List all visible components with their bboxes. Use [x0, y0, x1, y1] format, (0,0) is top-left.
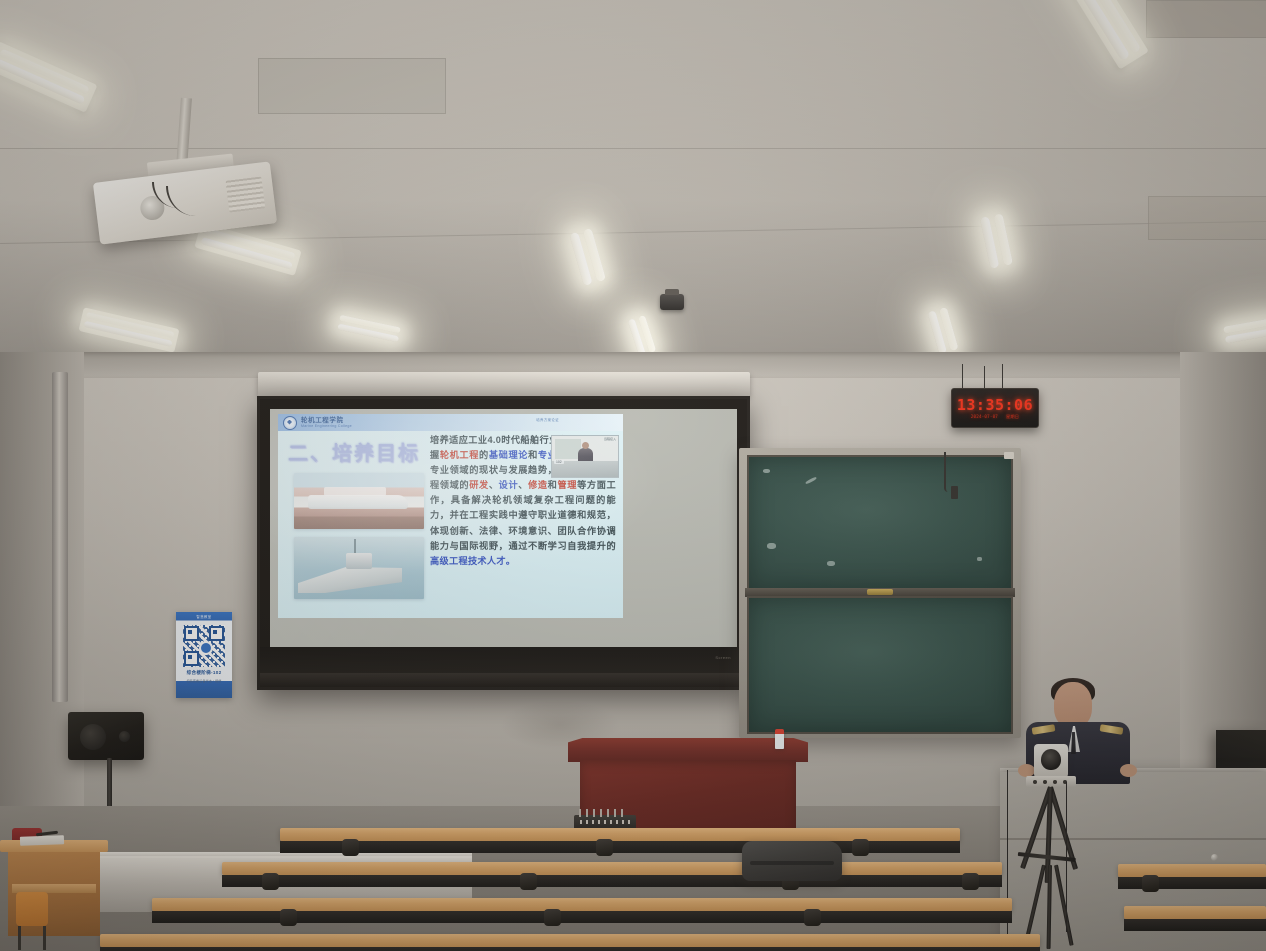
slide-text-run: 研发: [469, 480, 489, 490]
clock-wires: [958, 364, 1018, 390]
board-clip: [1004, 452, 1014, 459]
desk-bracket: [1142, 875, 1159, 892]
projection-screen: 轮机工程学院 Marine Engineering College 培养方案论证…: [257, 396, 750, 690]
slide-text-run: 等方面工作，具备解决轮机领域复杂工程问题的能力，并在工程实践中遵守职业道德和规范…: [430, 480, 616, 550]
chair-back: [16, 892, 48, 926]
college-logo-icon: [283, 416, 297, 430]
slide-text-run: 、: [489, 480, 499, 490]
cabinet-lock-icon[interactable]: [1211, 854, 1218, 861]
lecture-desk-row: [100, 934, 1040, 951]
slide-text-run: 设计: [499, 480, 519, 490]
slide-text-run: 修造: [528, 480, 548, 490]
qr-finder-icon: [209, 626, 224, 641]
slide-text-run: 、: [518, 480, 528, 490]
chalk-mark: [763, 469, 770, 473]
clock-weekday: 星期日: [1006, 414, 1019, 420]
slide-text-run: 和: [548, 480, 558, 490]
cruise-ship-photo: [294, 473, 424, 529]
desk-bracket: [852, 839, 869, 856]
camera-lens-icon: [1041, 749, 1061, 770]
chalkboard-handle[interactable]: [867, 589, 893, 595]
desk-top: [1118, 864, 1266, 877]
pip-participant-name: 远程接入: [604, 437, 616, 441]
cable-connector: [951, 486, 958, 499]
qr-finder-icon: [184, 651, 199, 666]
desk-bracket: [262, 873, 279, 890]
slide-text-run: 的: [479, 450, 489, 460]
pip-room-label: 102: [554, 460, 564, 464]
lecture-hall-photo: 轮机工程学院 Marine Engineering College 培养方案论证…: [0, 0, 1266, 951]
chalk-mark: [805, 476, 817, 484]
ceiling-panel: [258, 58, 446, 114]
chalk-mark: [827, 561, 835, 566]
chalk-mark: [977, 557, 982, 561]
presenter-hand-right: [1120, 764, 1137, 777]
desk-bracket: [804, 909, 821, 926]
screen-brand-label: Screen: [715, 655, 731, 660]
projector-vent: [226, 176, 266, 212]
poster-subtext: 扫码查看设备状态 / 报修: [176, 679, 232, 683]
desk-bracket: [962, 873, 979, 890]
desk-top: [1124, 906, 1266, 919]
chalkboard-panel-lower: [747, 596, 1013, 734]
screen-surface: 轮机工程学院 Marine Engineering College 培养方案论证…: [270, 409, 737, 647]
org-name-en: Marine Engineering College: [301, 424, 352, 429]
slide-text-run: 轮机工程: [440, 450, 479, 460]
pip-video-window: 102 远程接入: [551, 435, 619, 478]
poster-brand: 智慧教室: [196, 614, 211, 619]
slide-text-run: 管理: [557, 480, 577, 490]
wooden-chair: [14, 892, 50, 950]
ceiling-camera-icon: [660, 294, 684, 310]
desk-top: [222, 862, 1002, 875]
blackboard-cable: [944, 452, 948, 492]
speaker-woofer-icon: [80, 724, 106, 750]
wall-pipe: [52, 372, 68, 702]
lecture-desk-row: [1118, 864, 1266, 904]
chair-leg: [18, 926, 21, 950]
slide-title: 二、培养目标: [288, 437, 420, 466]
lecture-desk-row: [1124, 906, 1266, 940]
papers-on-desk: [20, 835, 64, 846]
clock-date: 2024-07-07: [971, 414, 998, 420]
qr-finder-icon: [184, 626, 199, 641]
clock-secondary-row: 2024-07-07 星期日: [971, 414, 1019, 420]
screen-weight-bar: [260, 673, 747, 687]
screen-lower-border: Screen: [260, 647, 747, 687]
slide-text-run: 高级工程技术人才。: [430, 556, 515, 566]
slide-text-run: 基础理论: [489, 450, 528, 460]
water-bottle: [775, 729, 784, 749]
desk-bracket: [544, 909, 561, 926]
boat-mast: [354, 539, 356, 557]
slide-header-org: 轮机工程学院 Marine Engineering College: [301, 417, 352, 429]
ceiling-seam: [0, 148, 1266, 149]
desk-top: [100, 934, 1040, 947]
lectern-top: [568, 738, 808, 762]
desk-bracket: [520, 873, 537, 890]
poster-header: 智慧教室: [176, 612, 232, 621]
camera-cable: [1066, 782, 1087, 932]
chalkboard-panel-upper: [747, 455, 1013, 591]
black-laptop-bag: [742, 841, 842, 881]
ptz-camera: [1034, 744, 1068, 778]
poster-room-label: 综合楼阶梯-102: [176, 670, 232, 676]
chalk-mark: [767, 543, 776, 549]
green-chalkboard: [739, 448, 1021, 738]
qr-logo-icon: [199, 641, 213, 655]
chair-leg: [43, 926, 46, 950]
slide-header: 轮机工程学院 Marine Engineering College 培养方案论证: [278, 414, 623, 431]
desk-rail: [1118, 877, 1266, 889]
vessel-bow-photo: [294, 537, 424, 599]
qr-code[interactable]: [183, 625, 225, 667]
desk-rail: [100, 947, 1040, 951]
desk-rail: [222, 875, 1002, 887]
org-name-cn: 轮机工程学院: [301, 417, 352, 424]
speaker-tweeter-icon: [119, 731, 130, 742]
pa-speaker-left: [68, 712, 144, 760]
room-qr-poster[interactable]: 智慧教室 综合楼阶梯-102 扫码查看设备状态 / 报修: [176, 612, 232, 698]
desk-rail: [1124, 919, 1266, 931]
desk-bracket: [342, 839, 359, 856]
slide-text-run: 和: [528, 450, 538, 460]
projector-screen-housing: [258, 372, 750, 396]
digital-wall-clock: 13:35:06 2024-07-07 星期日: [951, 388, 1039, 428]
slide-header-note: 培养方案论证: [536, 417, 559, 422]
desk-bracket: [280, 909, 297, 926]
desk-bracket: [596, 839, 613, 856]
clock-time-display: 13:35:06: [957, 397, 1033, 413]
ceiling-panel: [1146, 0, 1266, 38]
presentation-slide: 轮机工程学院 Marine Engineering College 培养方案论证…: [278, 414, 623, 618]
